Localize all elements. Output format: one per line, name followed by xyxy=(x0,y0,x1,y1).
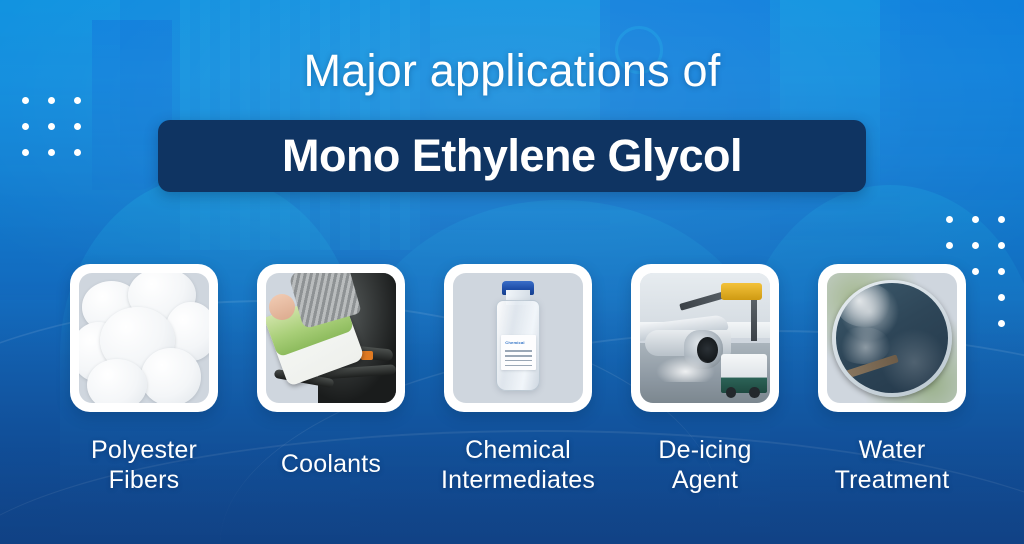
application-cards: Chemical xyxy=(0,264,1024,414)
card-label-polyester-fibers: Polyester Fibers xyxy=(54,436,234,495)
card-label-de-icing-agent: De-icing Agent xyxy=(615,436,795,495)
infographic-canvas: Major applications of Mono Ethylene Glyc… xyxy=(0,0,1024,544)
bottle-label: Chemical xyxy=(501,335,536,370)
water-treatment-photo xyxy=(827,273,957,403)
card-chemical-intermediates[interactable]: Chemical xyxy=(444,264,592,412)
card-coolants[interactable] xyxy=(257,264,405,412)
card-label-water-treatment: Water Treatment xyxy=(802,436,982,495)
de-icing-agent-photo xyxy=(640,273,770,403)
coolants-photo xyxy=(266,273,396,403)
chemical-intermediates-photo: Chemical xyxy=(453,273,583,403)
card-polyester-fibers[interactable] xyxy=(70,264,218,412)
polyester-fibers-photo xyxy=(79,273,209,403)
page-subtitle: Major applications of xyxy=(0,45,1024,97)
card-label-coolants: Coolants xyxy=(241,450,421,480)
page-title: Mono Ethylene Glycol xyxy=(282,130,742,182)
title-banner: Mono Ethylene Glycol xyxy=(158,120,866,192)
card-water-treatment[interactable] xyxy=(818,264,966,412)
bottle-brand-text: Chemical xyxy=(505,340,524,345)
dot-grid-left xyxy=(22,97,100,175)
card-de-icing-agent[interactable] xyxy=(631,264,779,412)
card-label-chemical-intermediates: Chemical Intermediates xyxy=(413,436,623,495)
